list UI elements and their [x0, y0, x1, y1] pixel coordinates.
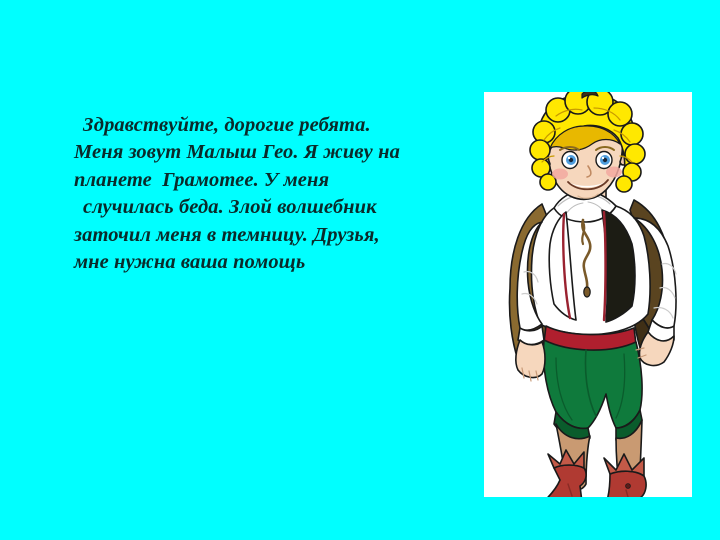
- slide-body-text: Здравствуйте, дорогие ребята. Меня зовут…: [74, 112, 464, 276]
- illustration-panel: [484, 92, 692, 497]
- text-line-6: мне нужна ваша помощь: [74, 249, 464, 276]
- cartoon-boy-icon: [484, 92, 692, 497]
- text-line-4: случилась беда. Злой волшебник: [74, 194, 464, 221]
- slide-canvas: Здравствуйте, дорогие ребята. Меня зовут…: [0, 0, 720, 540]
- text-line-3: планете Грамотее. У меня: [74, 167, 464, 194]
- text-line-1: Здравствуйте, дорогие ребята.: [74, 112, 464, 139]
- text-line-2: Меня зовут Малыш Гео. Я живу на: [74, 139, 464, 166]
- text-line-5: заточил меня в темницу. Друзья,: [74, 222, 464, 249]
